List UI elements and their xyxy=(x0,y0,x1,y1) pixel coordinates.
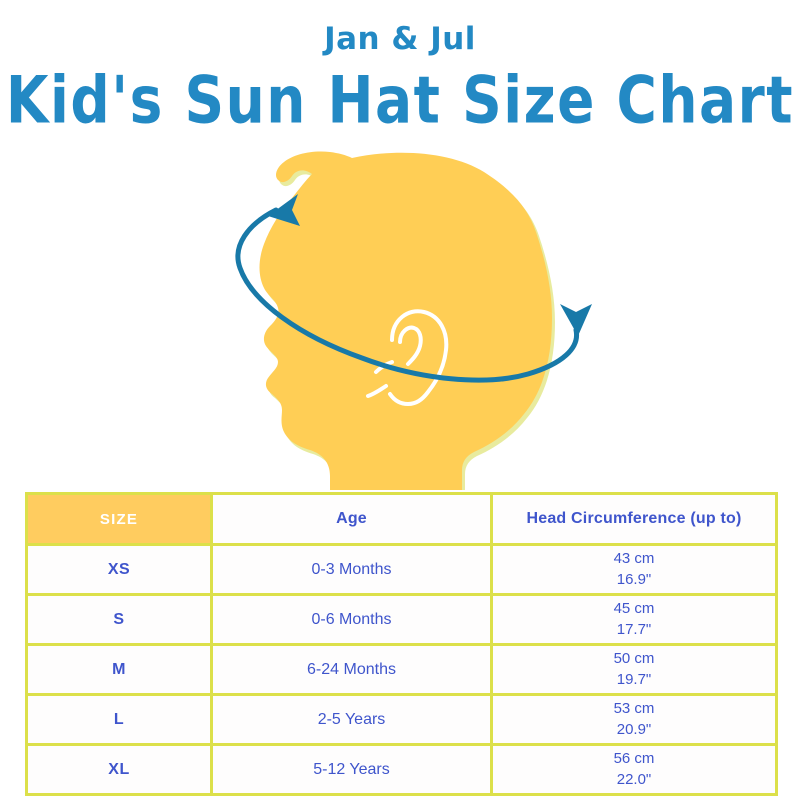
page-title: Kid's Sun Hat Size Chart xyxy=(0,67,800,135)
head-silhouette xyxy=(260,151,556,490)
cell-head-circumference: 56 cm 22.0" xyxy=(492,745,777,795)
table-row: M 6-24 Months 50 cm 19.7" xyxy=(27,645,777,695)
arrowhead-right xyxy=(560,304,592,336)
table-row: S 0-6 Months 45 cm 17.7" xyxy=(27,595,777,645)
cell-head-inch: 17.7" xyxy=(494,620,774,640)
cell-age: 2-5 Years xyxy=(212,695,492,745)
cell-size: S xyxy=(27,595,212,645)
cell-head-cm: 43 cm xyxy=(494,549,774,569)
cell-head-cm: 45 cm xyxy=(494,599,774,619)
column-header-head-circumference: Head Circumference (up to) xyxy=(492,494,777,545)
cell-head-inch: 22.0" xyxy=(494,770,774,790)
page-header: Jan & Jul Kid's Sun Hat Size Chart xyxy=(0,0,800,125)
cell-age: 6-24 Months xyxy=(212,645,492,695)
table-row: XL 5-12 Years 56 cm 22.0" xyxy=(27,745,777,795)
cell-age: 5-12 Years xyxy=(212,745,492,795)
head-illustration: Head Circumference xyxy=(0,150,800,490)
cell-size: XL xyxy=(27,745,212,795)
size-chart-table: SIZE Age Head Circumference (up to) XS 0… xyxy=(25,492,778,796)
cell-size: XS xyxy=(27,545,212,595)
cell-size: L xyxy=(27,695,212,745)
cell-head-inch: 20.9" xyxy=(494,720,774,740)
column-header-size: SIZE xyxy=(27,494,212,545)
cell-size: M xyxy=(27,645,212,695)
cell-head-inch: 16.9" xyxy=(494,570,774,590)
table-row: XS 0-3 Months 43 cm 16.9" xyxy=(27,545,777,595)
cell-head-cm: 56 cm xyxy=(494,749,774,769)
table-row: L 2-5 Years 53 cm 20.9" xyxy=(27,695,777,745)
cell-age: 0-6 Months xyxy=(212,595,492,645)
cell-head-cm: 53 cm xyxy=(494,699,774,719)
cell-head-inch: 19.7" xyxy=(494,670,774,690)
cell-head-circumference: 53 cm 20.9" xyxy=(492,695,777,745)
cell-head-circumference: 43 cm 16.9" xyxy=(492,545,777,595)
cell-head-cm: 50 cm xyxy=(494,649,774,669)
table-header: SIZE Age Head Circumference (up to) xyxy=(27,494,777,545)
brand-name: Jan & Jul xyxy=(0,24,800,55)
table-body: XS 0-3 Months 43 cm 16.9" S 0-6 Months 4… xyxy=(27,545,777,795)
column-header-age: Age xyxy=(212,494,492,545)
cell-age: 0-3 Months xyxy=(212,545,492,595)
table-header-row: SIZE Age Head Circumference (up to) xyxy=(27,494,777,545)
cell-head-circumference: 50 cm 19.7" xyxy=(492,645,777,695)
cell-head-circumference: 45 cm 17.7" xyxy=(492,595,777,645)
